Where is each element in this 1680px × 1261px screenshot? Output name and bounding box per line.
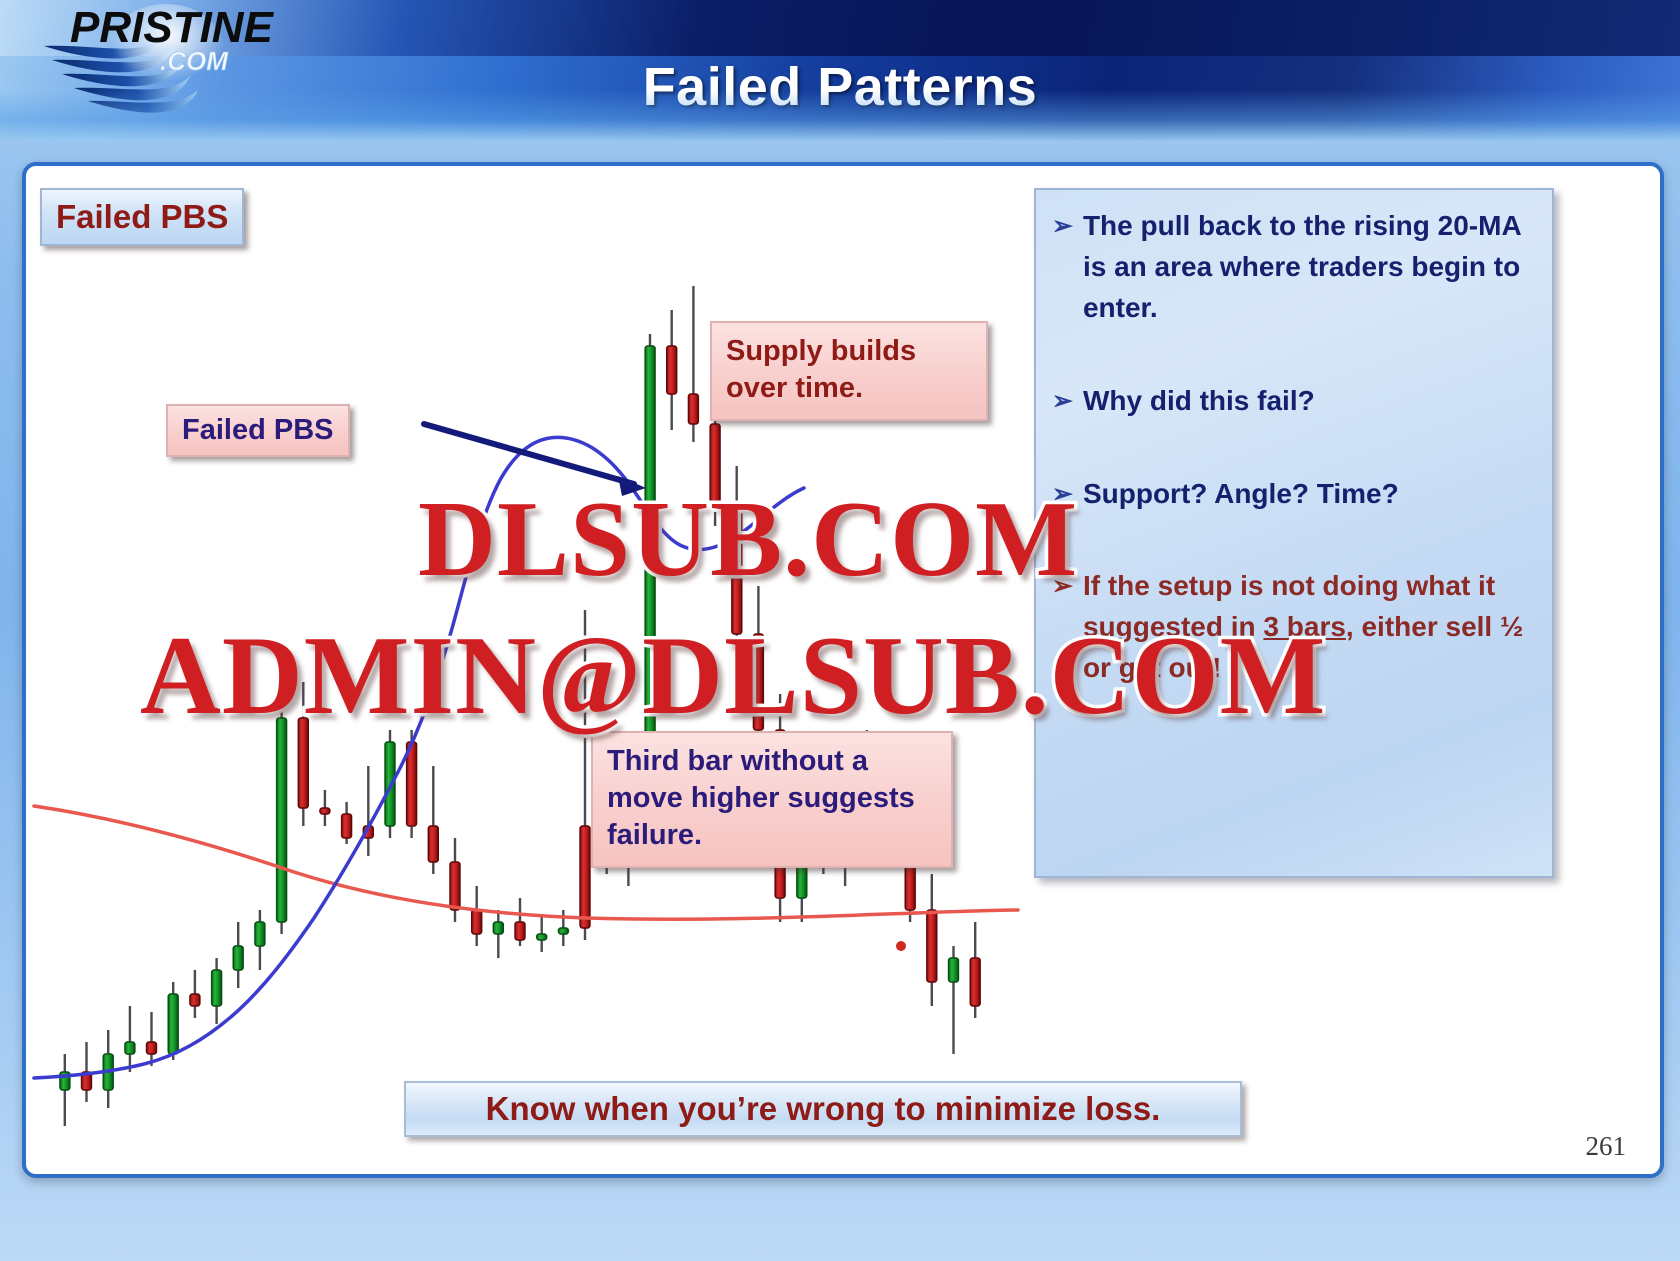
candle-body-up [233,946,243,970]
candle-body-up [125,1042,135,1054]
callout-failed-pbs-label: Failed PBS [166,404,350,457]
candle-body-down [580,826,590,928]
bullet-text: Support? Angle? Time? [1083,474,1399,515]
candle-body-up [558,928,568,934]
bottom-caption: Know when you’re wrong to minimize loss. [404,1081,1242,1137]
candle-body-down [190,994,200,1006]
notes-panel: ➢ The pull back to the rising 20-MA is a… [1034,188,1554,878]
bullet-support-angle-time: ➢ Support? Angle? Time? [1052,474,1536,515]
callout-supply-builds: Supply builds over time. [710,321,988,421]
candle-body-down [667,346,677,394]
bullet-arrow-icon: ➢ [1052,206,1073,246]
bullet-spacer [1052,335,1536,381]
candle-body-down [710,424,720,502]
callout-third-bar: Third bar without a move higher suggests… [591,731,953,868]
bullet-text: The pull back to the rising 20-MA is an … [1083,206,1536,329]
bullet-text: If the setup is not doing what it sugges… [1083,566,1536,689]
bullet-three-bars: ➢ If the setup is not doing what it sugg… [1052,566,1536,689]
candle-body-up [255,922,265,946]
candle-body-up [277,718,287,922]
failed-pbs-arrow [424,424,646,496]
bullet-pullback: ➢ The pull back to the rising 20-MA is a… [1052,206,1536,329]
bullet-text-underlined: 3 bars [1263,611,1346,642]
content-panel: Failed PBS Failed PBS Supply builds over… [22,162,1664,1178]
bullet-arrow-icon: ➢ [1052,381,1073,421]
candle-body-down [147,1042,157,1054]
bullet-arrow-icon: ➢ [1052,566,1073,606]
bullet-arrow-icon: ➢ [1052,474,1073,514]
callout-failed-pbs-title: Failed PBS [40,188,244,246]
logo-wordmark: PRISTINE [70,3,275,52]
candle-body-up [493,922,503,934]
candle-body-down [472,910,482,934]
candle-body-down [515,922,525,940]
candle-body-up [212,970,222,1006]
candle-body-down [320,808,330,814]
bullet-spacer [1052,520,1536,566]
candle-body-down [428,826,438,862]
page-number: 261 [1586,1131,1627,1162]
candle-body-down [732,502,742,634]
candlestick-chart [26,166,1026,1166]
slide-header: PRISTINE .COM Failed Patterns [0,0,1680,140]
bullet-spacer [1052,428,1536,474]
candle-body-up [949,958,959,982]
candle-body-up [168,994,178,1054]
bullet-text: Why did this fail? [1083,381,1315,422]
candle-body-down [927,910,937,982]
candle-body-down [753,634,763,730]
candle-body-up [537,934,547,940]
candle-body-down [688,394,698,424]
candle-body-down [298,718,308,808]
header-gradient-fade [0,90,1680,140]
candle-body-down [970,958,980,1006]
red-dot-marker [896,941,906,951]
slide-root: PRISTINE .COM Failed Patterns [0,0,1680,1261]
candle-body-down [450,862,460,910]
candle-body-down [342,814,352,838]
bullet-why-fail: ➢ Why did this fail? [1052,381,1536,422]
